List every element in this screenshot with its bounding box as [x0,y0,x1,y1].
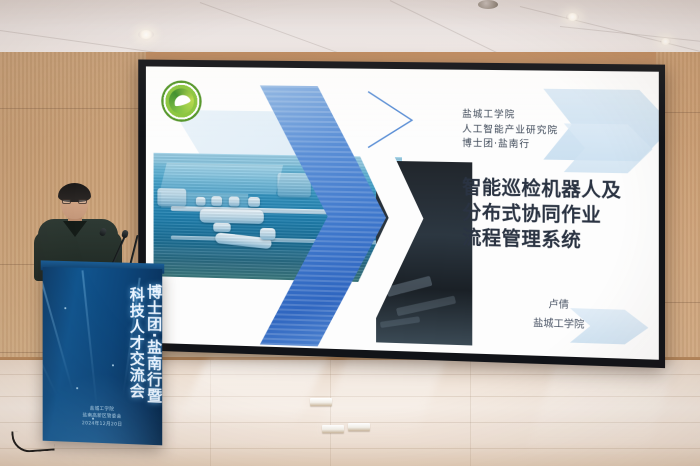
slide-subtitle: 盐城工学院 人工智能产业研究院 博士团·盐南行 [462,108,558,154]
floor-light-box [322,425,344,433]
podium-banner-text: 博士团·盐南行暨科技人才交流会 [43,277,163,408]
presentation-screen: 盐城工学院 人工智能产业研究院 博士团·盐南行 智能巡检机器人及 分布式协同作业… [138,59,665,368]
floor-light-box [348,423,370,431]
podium-banner-footer: 盐城工学院 盐南高新区管委会 2024年12月20日 [43,404,163,432]
ceiling-downlight [138,30,154,39]
subtitle-line-3: 博士团·盐南行 [462,137,558,153]
floor-light-box [310,398,332,406]
ceiling-downlight [660,38,671,45]
speaker-glasses [62,199,87,204]
presentation-slide: 盐城工学院 人工智能产业研究院 博士团·盐南行 智能巡检机器人及 分布式协同作业… [146,66,659,359]
institute-logo [161,80,201,122]
title-line-2: 分布式协同作业 [462,200,621,229]
slide-title: 智能巡检机器人及 分布式协同作业 流程管理系统 [462,175,621,255]
title-line-1: 智能巡检机器人及 [462,175,621,204]
ceiling-speaker-icon [478,0,498,9]
subtitle-line-1: 盐城工学院 [462,108,558,124]
title-line-3: 流程管理系统 [462,226,621,255]
subtitle-line-2: 人工智能产业研究院 [462,123,558,139]
presentation-photo-scene: 盐城工学院 人工智能产业研究院 博士团·盐南行 智能巡检机器人及 分布式协同作业… [0,0,700,466]
podium-banner-panel: 博士团·盐南行暨科技人才交流会 盐城工学院 盐南高新区管委会 2024年12月2… [43,267,163,445]
ceiling-downlight [566,13,579,21]
slide-presenter-block: 卢倩 盐城工学院 [462,293,657,337]
outline-chevron-icon [362,89,420,152]
